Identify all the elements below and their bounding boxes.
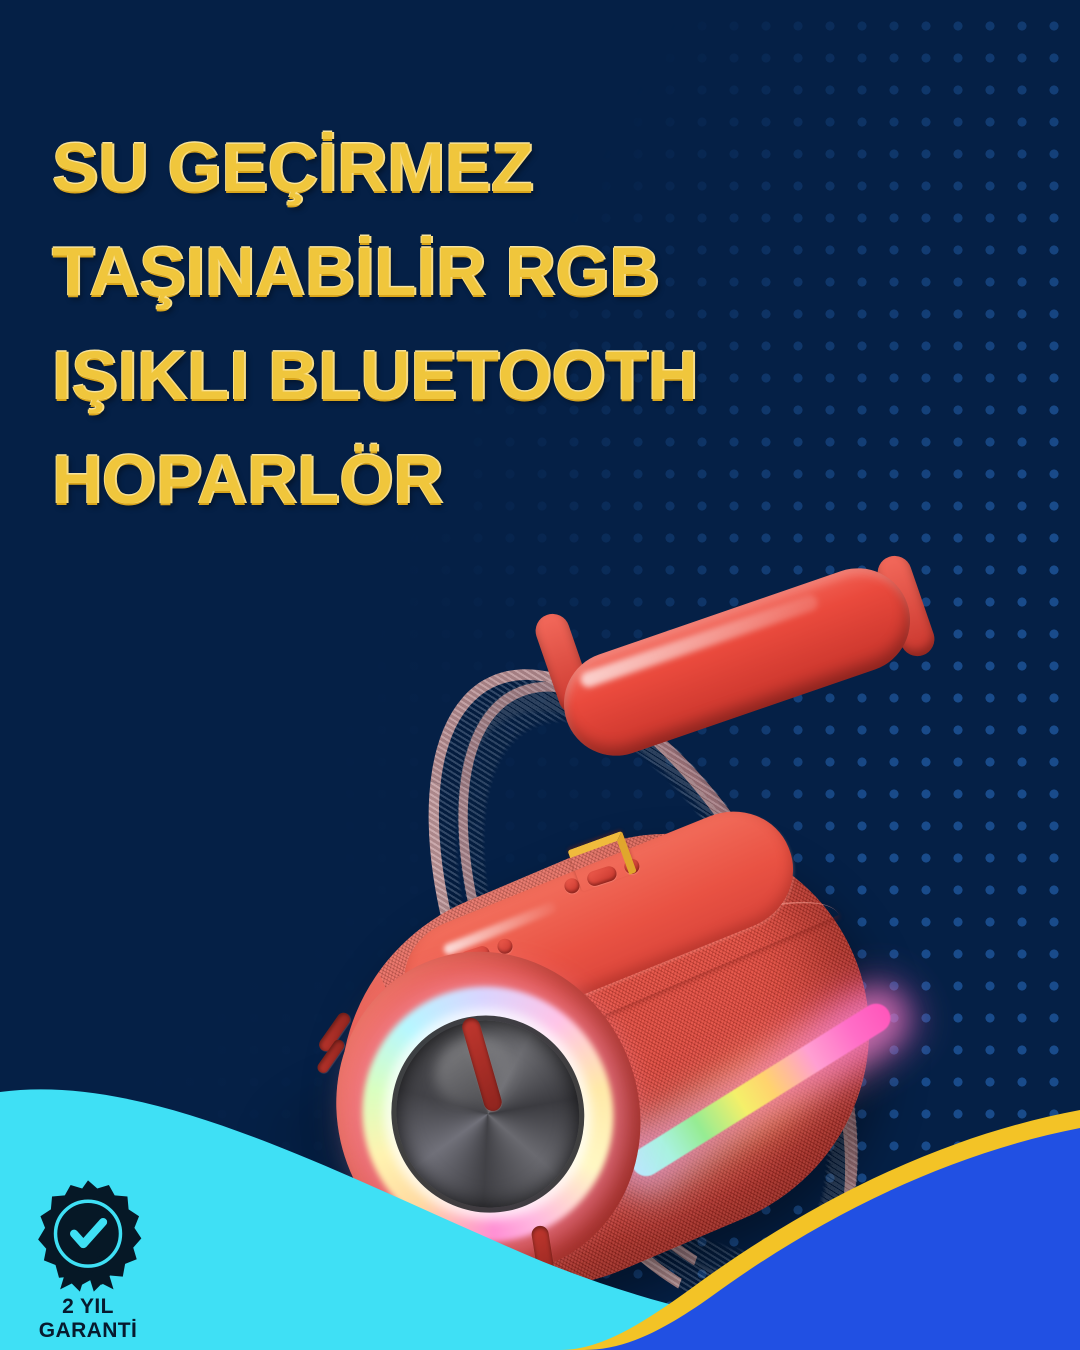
verified-seal-check-icon	[30, 1178, 146, 1294]
headline-line-3: IŞIKLI BLUETOOTH	[52, 324, 852, 428]
page-title: SU GEÇİRMEZ TAŞINABİLİR RGB IŞIKLI BLUET…	[52, 116, 852, 532]
warranty-badge-line-1: 2 YIL	[8, 1295, 168, 1319]
handle-grip-sleeve	[550, 554, 924, 770]
headline-line-1: SU GEÇİRMEZ	[52, 116, 852, 220]
warranty-badge-line-2: GARANTİ	[8, 1319, 168, 1343]
headline-line-4: HOPARLÖR	[52, 428, 852, 532]
poster-canvas: SU GEÇİRMEZ TAŞINABİLİR RGB IŞIKLI BLUET…	[0, 0, 1080, 1350]
warranty-badge: 2 YIL GARANTİ	[8, 1178, 168, 1350]
headline-line-2: TAŞINABİLİR RGB	[52, 220, 852, 324]
